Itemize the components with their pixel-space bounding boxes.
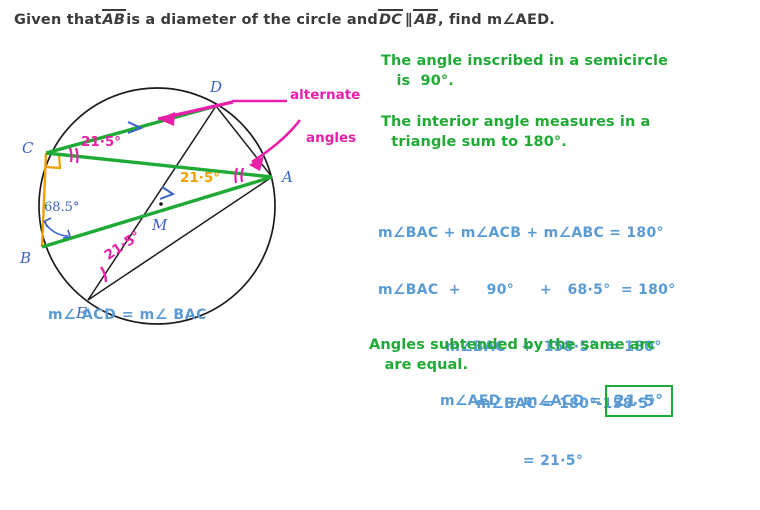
question-suffix: , find m∠AED. xyxy=(438,12,555,28)
work-line-2: m∠BAC + 90° + 68·5° = 180° xyxy=(378,281,676,300)
angle-arc-a-2 xyxy=(235,168,237,183)
segment-dc: DC xyxy=(378,12,403,28)
parallel-symbol: ∥ xyxy=(403,12,413,28)
angle-label-abc: 68.5° xyxy=(44,200,79,215)
angle-arrow-b-head xyxy=(63,230,70,238)
chord-ca-green xyxy=(46,153,272,177)
angle-arc-b xyxy=(44,221,68,236)
fact-triangle-sum: The interior angle measures in a triangl… xyxy=(381,113,650,152)
answer-lead-equation: m∠AED = m∠ACD = xyxy=(440,393,602,409)
work-line-5: = 21·5° xyxy=(378,452,676,471)
circle-diagram: C B E D A M 21·5° 21·5° 21·5° 68.5° alte… xyxy=(0,34,360,334)
vertex-label-d: D xyxy=(210,78,222,96)
diagram-caption-equation: m∠ ACD = m∠ BAC xyxy=(48,307,207,323)
answer-box: 21·5° xyxy=(605,385,673,417)
chord-ea xyxy=(88,177,272,300)
alternate-angles-annotation: alternate angles xyxy=(290,60,360,173)
worksheet-canvas: Given that AB is a diameter of the circl… xyxy=(0,0,760,427)
question-statement: Given that AB is a diameter of the circl… xyxy=(14,6,754,34)
vertex-label-m: M xyxy=(152,216,167,234)
alternate-angles-line-2: angles xyxy=(306,131,360,145)
vertex-label-c: C xyxy=(22,139,33,157)
question-prefix: Given that xyxy=(14,12,102,28)
alternate-angles-line-1: alternate xyxy=(290,88,360,102)
point-m-dot xyxy=(159,202,163,206)
fact-semicircle: The angle inscribed in a semicircle is 9… xyxy=(381,52,668,91)
segment-ab-2: AB xyxy=(413,12,438,28)
chord-da xyxy=(216,106,272,177)
angle-label-bac: 21·5° xyxy=(180,170,220,186)
work-line-1: m∠BAC + m∠ACB + m∠ABC = 180° xyxy=(378,224,676,243)
fact-subtended-arc: Angles subtended by the same arc are equ… xyxy=(369,336,656,375)
final-answer-row: m∠AED = m∠ACD = 21·5° xyxy=(440,386,673,416)
answer-value: 21·5° xyxy=(614,393,664,409)
segment-ab-1: AB xyxy=(102,12,127,28)
leader-arrowhead-c xyxy=(158,112,175,126)
angle-label-acd: 21·5° xyxy=(81,134,121,150)
question-mid: is a diameter of the circle and xyxy=(126,12,378,28)
vertex-label-b: B xyxy=(20,249,31,267)
